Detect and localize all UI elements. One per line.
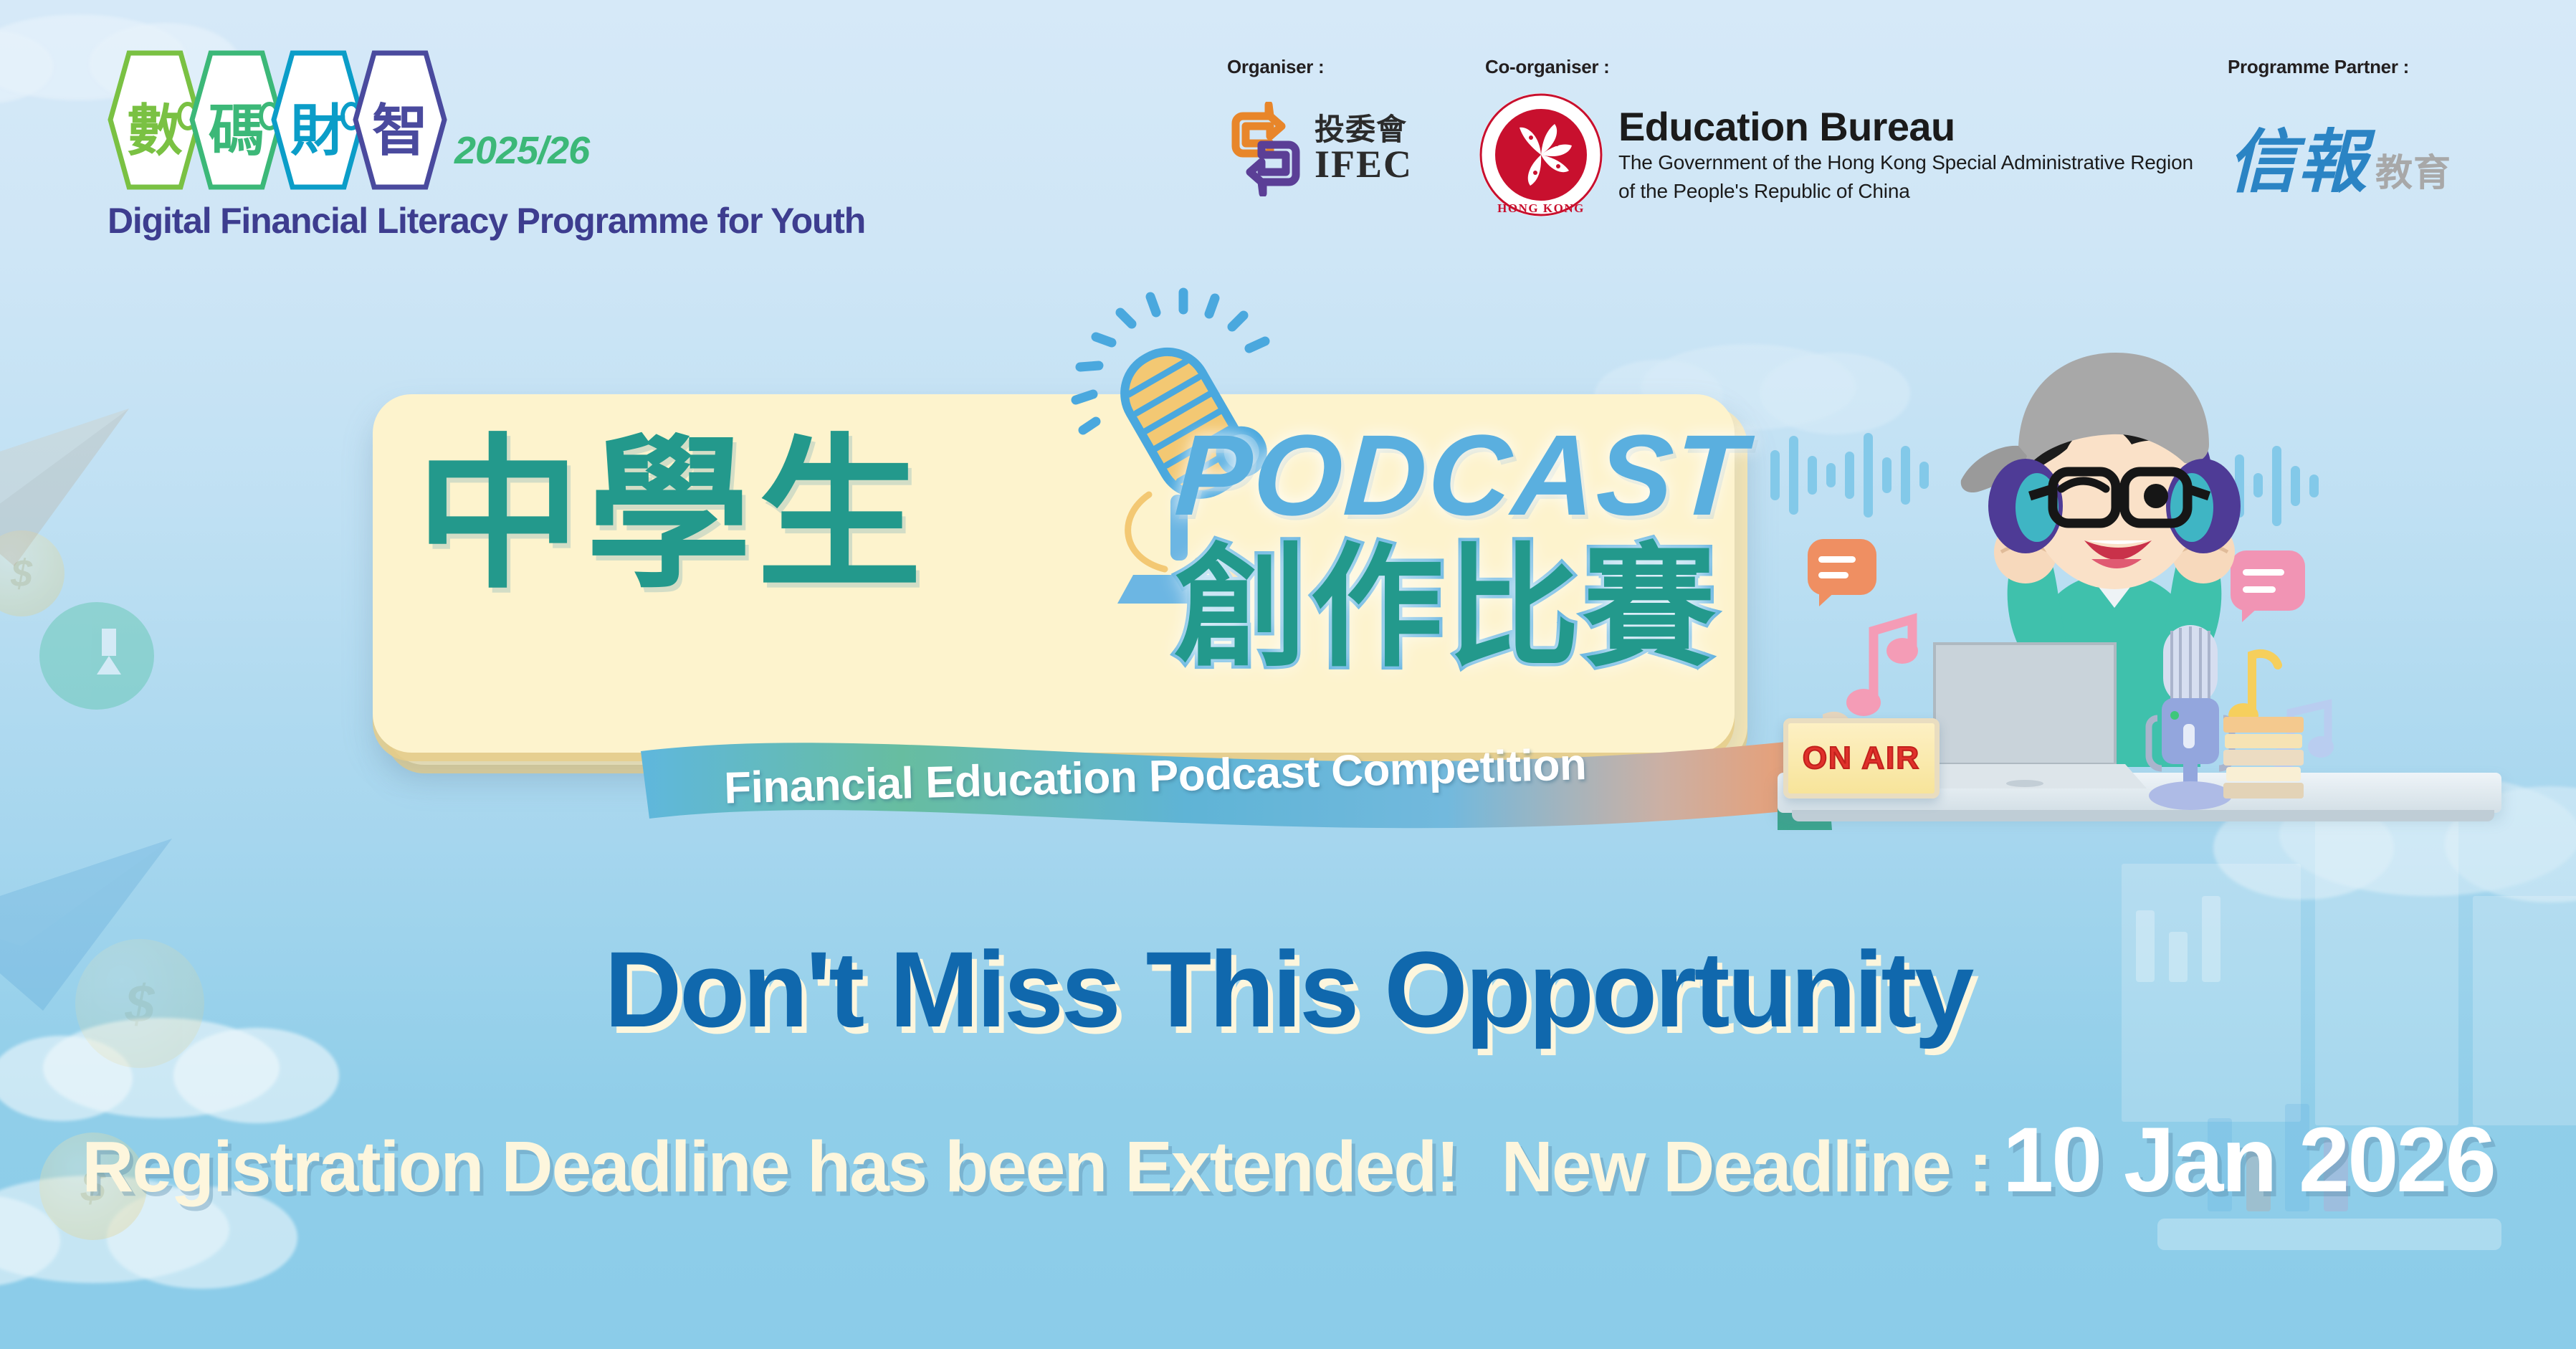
hexagon-row: 數 碼 財 智 2025/26 — [108, 50, 865, 190]
title-podcast-word: PODCAST — [1173, 418, 1750, 533]
coorganiser-label: Co-organiser : — [1485, 56, 1609, 78]
hexagon-badge-3: 財 — [271, 50, 366, 190]
title-chinese-main: 中學生 — [416, 434, 927, 599]
hksar-emblem-icon: HONG KONG — [1478, 92, 1604, 218]
programme-partner-label: Programme Partner : — [2228, 56, 2409, 78]
education-bureau-text: Education Bureau The Government of the H… — [1618, 106, 2193, 204]
education-bureau-logo: HONG KONG Education Bureau The Governmen… — [1478, 92, 2193, 218]
hexagon-char-3: 財 — [271, 50, 366, 190]
hexagon-badge-1: 數 — [108, 50, 202, 190]
education-bureau-line1: The Government of the Hong Kong Special … — [1618, 150, 2193, 176]
bar-chart-decoration — [2157, 1219, 2501, 1250]
deadline-extended-text: Registration Deadline has been Extended! — [82, 1126, 1458, 1209]
new-deadline-label: New Deadline : — [1502, 1126, 1991, 1209]
laptop-icon — [1903, 637, 2147, 801]
organiser-label-block: Organiser : — [1227, 56, 1324, 78]
hexagon-badge-4: 智 — [353, 50, 447, 190]
hexagon-char-2: 碼 — [189, 50, 284, 190]
on-air-label: ON AIR — [1803, 740, 1920, 776]
programme-partner-label-block: Programme Partner : — [2228, 56, 2409, 78]
ifec-english: IFEC — [1315, 146, 1413, 183]
programme-year: 2025/26 — [454, 128, 589, 190]
title-ribbon: Financial Education Podcast Competition — [631, 723, 1835, 830]
ifec-chinese: 投委會 — [1315, 115, 1413, 144]
chat-bubble-orange — [1808, 539, 1876, 595]
new-deadline-date: 10 Jan 2026 — [2003, 1107, 2494, 1213]
programme-logo: 數 碼 財 智 2025/26 Digital Financial Litera… — [108, 50, 865, 242]
hexagon-char-1: 數 — [108, 50, 202, 190]
hkej-education: 教育 — [2375, 143, 2451, 196]
education-bureau-line2: of the People's Republic of China — [1618, 178, 2193, 204]
education-bureau-title: Education Bureau — [1618, 106, 2193, 147]
hkej-chinese: 信報 — [2228, 106, 2368, 206]
hexagon-char-4: 智 — [353, 50, 447, 190]
coorganiser-label-block: Co-organiser : — [1485, 56, 1609, 78]
paper-plane-decoration — [0, 401, 151, 588]
on-air-sign: ON AIR — [1783, 718, 1940, 799]
podcaster-illustration: ON AIR — [1778, 308, 2576, 903]
main-headline: Don't Miss This Opportunity — [0, 935, 2576, 1043]
growth-arrow-badge — [39, 602, 154, 710]
ifec-mark-icon — [1227, 102, 1304, 196]
main-title-lockup: 中學生 — [373, 326, 1792, 799]
svg-text:HONG KONG: HONG KONG — [1497, 201, 1585, 215]
ifec-text: 投委會 IFEC — [1315, 115, 1413, 183]
books-stack-icon — [2222, 710, 2308, 803]
hexagon-badge-2: 碼 — [189, 50, 284, 190]
programme-subtitle: Digital Financial Literacy Programme for… — [108, 200, 865, 242]
hkej-logo: 信報 教育 — [2228, 106, 2451, 206]
title-chinese-sub: 創作比賽 — [1174, 541, 1719, 674]
deadline-row: Registration Deadline has been Extended!… — [0, 1107, 2576, 1213]
organiser-label: Organiser : — [1227, 56, 1324, 78]
ifec-logo: 投委會 IFEC — [1227, 102, 1413, 196]
coin-decoration: $ — [0, 530, 65, 616]
